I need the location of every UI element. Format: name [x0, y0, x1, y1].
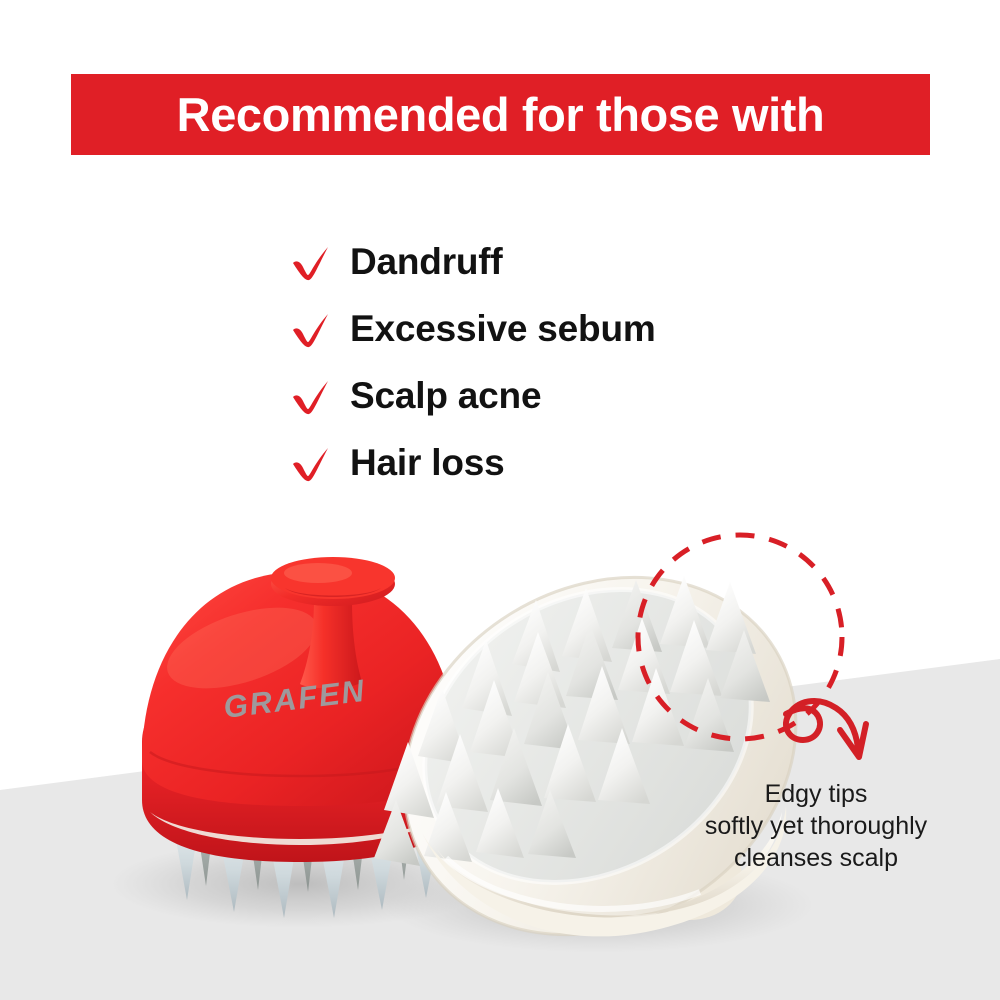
list-item: Scalp acne — [288, 362, 656, 429]
caption-line: Edgy tips — [672, 778, 960, 810]
list-item: Hair loss — [288, 429, 656, 496]
check-mark-icon — [288, 373, 334, 419]
list-item-label: Excessive sebum — [350, 310, 656, 347]
check-mark-icon — [288, 440, 334, 486]
list-item-label: Hair loss — [350, 444, 505, 481]
list-item-label: Scalp acne — [350, 377, 541, 414]
list-item: Excessive sebum — [288, 295, 656, 362]
caption-line: cleanses scalp — [672, 842, 960, 874]
marketing-image-canvas: GRAFEN — [0, 0, 1000, 1000]
check-mark-icon — [288, 239, 334, 285]
caption-line: softly yet thoroughly — [672, 810, 960, 842]
list-item-label: Dandruff — [350, 243, 503, 280]
header-banner: Recommended for those with — [71, 74, 930, 155]
benefit-checklist: Dandruff Excessive sebum Scalp acne Hair… — [288, 228, 656, 496]
page-title: Recommended for those with — [177, 91, 825, 138]
list-item: Dandruff — [288, 228, 656, 295]
check-mark-icon — [288, 306, 334, 352]
feature-caption: Edgy tips softly yet thoroughly cleanses… — [672, 778, 960, 874]
